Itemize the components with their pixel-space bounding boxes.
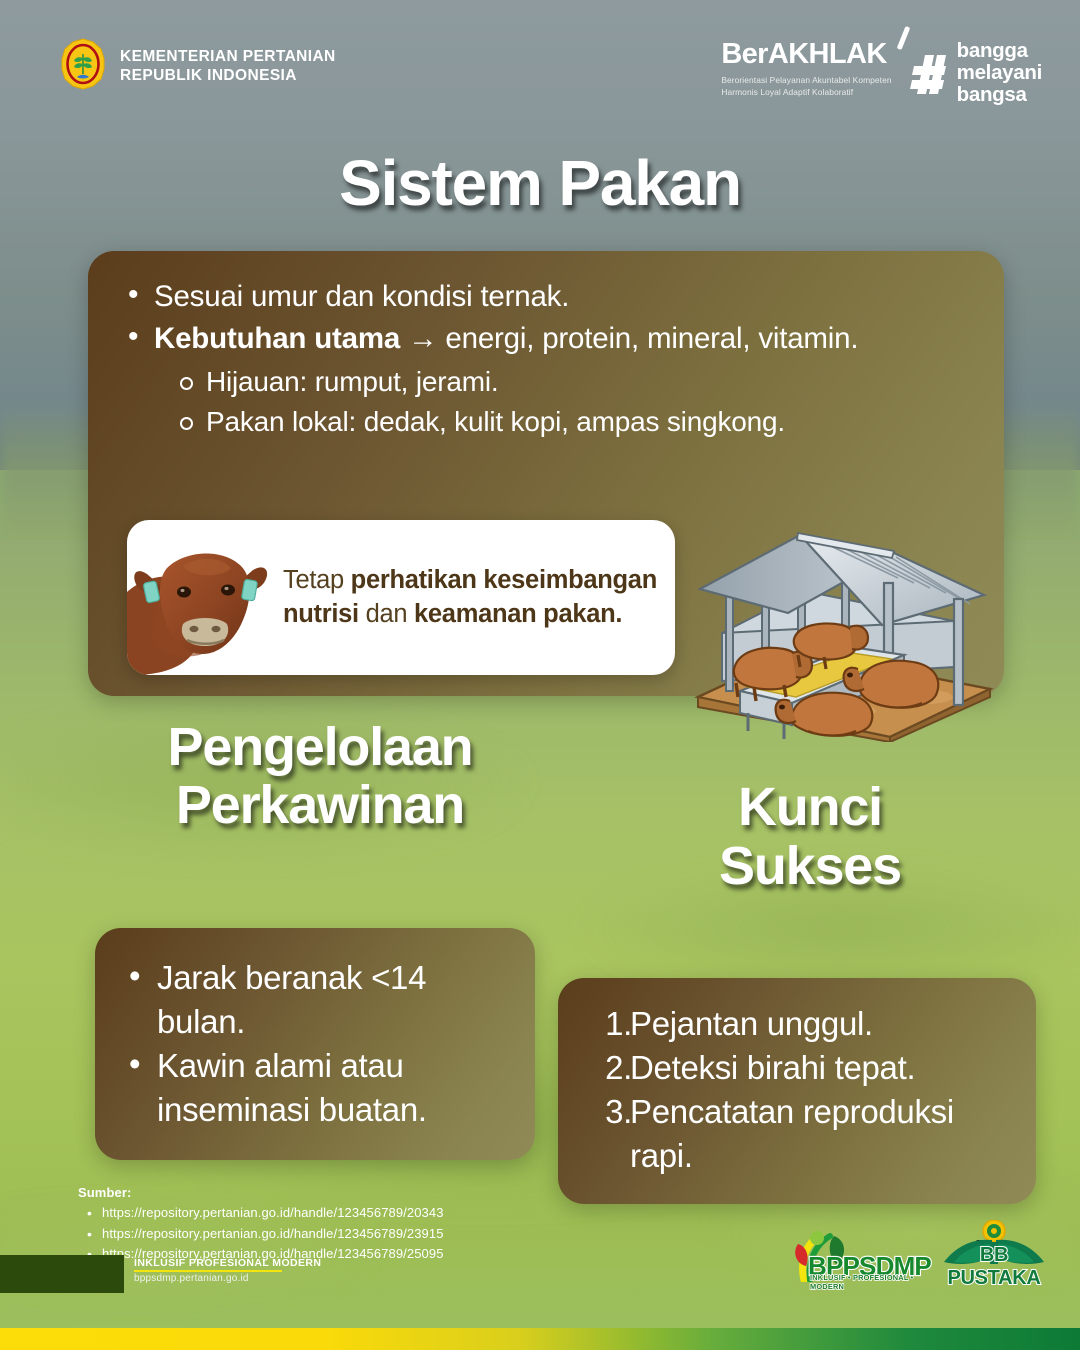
open-book-logo: BB PUSTAKA: [934, 1220, 1054, 1292]
perkawinan-bullet-list: Jarak beranak <14 bulan. Kawin alami ata…: [117, 956, 513, 1132]
bbpustaka-wordmark: BB PUSTAKA: [934, 1244, 1054, 1290]
kunci-item-3: 3.Pencatatan reproduksi rapi.: [578, 1090, 1016, 1178]
pakan-sub-bullet-1: Hijauan: rumput, jerami.: [174, 362, 974, 402]
kunci-item-2-text: Deteksi birahi tepat.: [630, 1049, 915, 1086]
kunci-item-1: 1.Pejantan unggul.: [578, 1002, 1016, 1046]
kunci-sukses-title: Kunci Sukses: [600, 778, 1020, 897]
bppsdmp-tagline: INKLUSIF • PROFESIONAL • MODERN: [810, 1273, 920, 1291]
ministry-line-1: KEMENTERIAN PERTANIAN: [120, 48, 336, 67]
bottom-color-strip: [0, 1328, 1080, 1350]
pakan-bullet-1-text: Sesuai umur dan kondisi ternak.: [154, 280, 569, 313]
sources-section: Sumber: https://repository.pertanian.go.…: [78, 1185, 598, 1265]
nutrition-callout-card: Tetap perhatikan keseimbangan nutrisi da…: [127, 520, 675, 675]
berakhlak-branding: BerAKHLAK Berorientasi Pelayanan Akuntab…: [721, 38, 1042, 106]
berakhlak-wordmark: BerAKHLAK: [721, 38, 891, 71]
pakan-bullet-list: Sesuai umur dan kondisi ternak. Kebutuha…: [118, 277, 974, 358]
kunci-sukses-list: 1.Pejantan unggul. 2.Deteksi birahi tepa…: [578, 1002, 1016, 1178]
berakhlak-logo: BerAKHLAK Berorientasi Pelayanan Akuntab…: [721, 38, 891, 98]
kunci-sukses-panel: 1.Pejantan unggul. 2.Deteksi birahi tepa…: [558, 978, 1036, 1204]
pakan-bullet-1: Sesuai umur dan kondisi ternak.: [118, 277, 974, 317]
perkawinan-panel: Jarak beranak <14 bulan. Kawin alami ata…: [95, 928, 535, 1160]
kunci-title-line-1: Kunci: [600, 778, 1020, 837]
ministry-seal-icon: [60, 38, 106, 95]
sources-title: Sumber:: [78, 1185, 598, 1200]
page-header: KEMENTERIAN PERTANIAN REPUBLIK INDONESIA…: [0, 0, 1080, 128]
hashtag-icon: [908, 50, 948, 96]
footer-divider: [134, 1270, 282, 1272]
perkawinan-bullet-2: Kawin alami atau inseminasi buatan.: [117, 1044, 513, 1132]
ministry-name: KEMENTERIAN PERTANIAN REPUBLIK INDONESIA: [120, 48, 336, 86]
berakhlak-values-line-1: Berorientasi Pelayanan Akuntabel Kompete…: [721, 74, 891, 86]
slogan-line-2: melayani: [957, 62, 1042, 84]
slogan-line-1: bangga: [957, 40, 1042, 62]
footer-url: bppsdmp.pertanian.go.id: [134, 1273, 321, 1284]
kunci-item-1-number: 1.: [588, 1002, 632, 1046]
perkawinan-bullet-1: Jarak beranak <14 bulan.: [117, 956, 513, 1044]
pakan-sub-bullet-2: Pakan lokal: dedak, kulit kopi, ampas si…: [174, 402, 974, 442]
footer-bar: INKLUSIF PROFESIONAL MODERN bppsdmp.pert…: [0, 1255, 321, 1293]
kunci-item-3-number: 3.: [588, 1090, 632, 1134]
pakan-bullet-2-text: → energi, protein, mineral, vitamin.: [400, 322, 858, 355]
ministry-branding: KEMENTERIAN PERTANIAN REPUBLIK INDONESIA: [60, 38, 336, 95]
pakan-bullet-2: Kebutuhan utama → energi, protein, miner…: [118, 319, 974, 359]
footer-logos: BPPSDMP INKLUSIF • PROFESIONAL • MODERN …: [790, 1220, 1054, 1292]
footer-tagline: INKLUSIF PROFESIONAL MODERN: [134, 1257, 321, 1269]
bangga-melayani-bangsa-logo: bangga melayani bangsa: [908, 40, 1042, 106]
ministry-line-2: REPUBLIK INDONESIA: [120, 67, 336, 86]
pakan-sub-bullet-list: Hijauan: rumput, jerami. Pakan lokal: de…: [174, 362, 974, 442]
bangga-slogan: bangga melayani bangsa: [957, 40, 1042, 106]
pengelolaan-perkawinan-title: Pengelolaan Perkawinan: [60, 718, 580, 835]
page-title: Sistem Pakan: [0, 146, 1080, 220]
berakhlak-word-text: BerAKHLAK: [721, 38, 886, 70]
pakan-bullet-2-bold: Kebutuhan utama: [154, 322, 400, 355]
cow-head-photo: [127, 520, 279, 675]
pengelolaan-title-line-2: Perkawinan: [60, 776, 580, 834]
kunci-item-1-text: Pejantan unggul.: [630, 1005, 873, 1042]
source-link-1[interactable]: https://repository.pertanian.go.id/handl…: [78, 1203, 598, 1224]
footer-green-block: [0, 1255, 124, 1293]
slogan-line-3: bangsa: [957, 84, 1042, 106]
kunci-item-2-number: 2.: [588, 1046, 632, 1090]
kunci-item-3-text: Pencatatan reproduksi rapi.: [630, 1093, 954, 1174]
berakhlak-values: Berorientasi Pelayanan Akuntabel Kompete…: [721, 74, 891, 98]
kunci-title-line-2: Sukses: [600, 837, 1020, 896]
pengelolaan-title-line-1: Pengelolaan: [60, 718, 580, 776]
footer-text: INKLUSIF PROFESIONAL MODERN bppsdmp.pert…: [124, 1255, 321, 1293]
callout-bold-2: keamanan pakan.: [414, 600, 622, 628]
bppsdmp-leaf-logo: BPPSDMP INKLUSIF • PROFESIONAL • MODERN: [790, 1230, 920, 1292]
source-link-2[interactable]: https://repository.pertanian.go.id/handl…: [78, 1224, 598, 1245]
kunci-item-2: 2.Deteksi birahi tepat.: [578, 1046, 1016, 1090]
callout-part-2: dan: [359, 600, 414, 628]
callout-text: Tetap perhatikan keseimbangan nutrisi da…: [279, 564, 675, 631]
berakhlak-values-line-2: Harmonis Loyal Adaptif Kolaboratif: [721, 86, 891, 98]
cattle-barn-illustration: [692, 521, 1004, 742]
callout-part-1: Tetap: [283, 566, 351, 594]
